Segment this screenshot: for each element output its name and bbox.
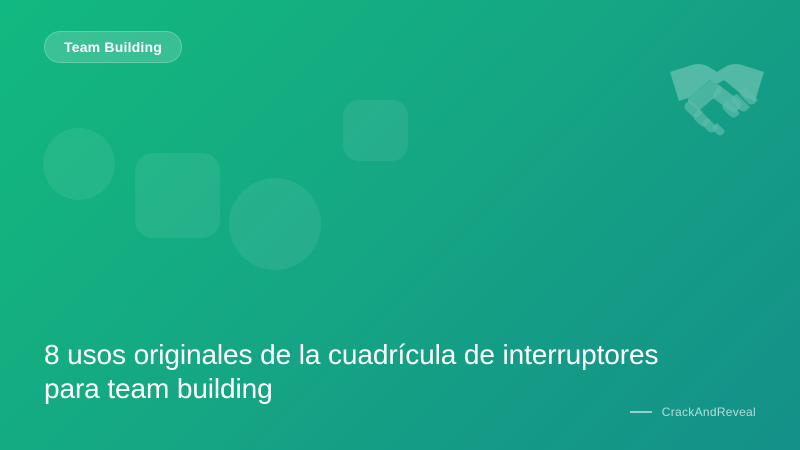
- category-badge-label: Team Building: [64, 39, 162, 55]
- decor-rounded-square-1: [135, 153, 220, 238]
- page-title: 8 usos originales de la cuadrícula de in…: [44, 338, 704, 406]
- category-badge[interactable]: Team Building: [44, 31, 182, 63]
- decor-circle-2: [229, 178, 321, 270]
- brand-rule-icon: [630, 411, 652, 413]
- decor-rounded-square-2: [343, 100, 408, 161]
- brand-name: CrackAndReveal: [662, 405, 756, 419]
- social-card: Team Building 8 usos originales de la cu…: [0, 0, 800, 450]
- brand-footer: CrackAndReveal: [630, 405, 756, 419]
- handshake-icon: [662, 56, 772, 138]
- decor-circle-1: [43, 128, 115, 200]
